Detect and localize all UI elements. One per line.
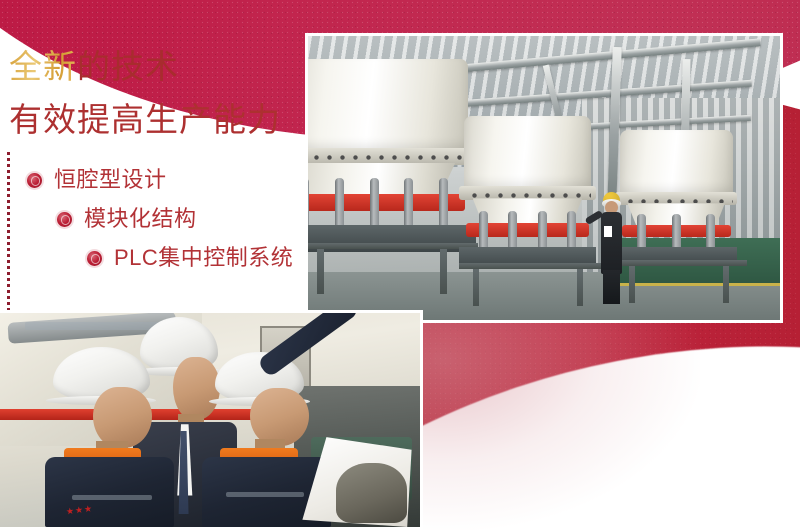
bullet-dot-icon [57, 212, 72, 227]
bullet-label: 恒腔型设计 [54, 167, 167, 193]
headline-gold-text: 全新 [9, 48, 77, 85]
bullet-label: PLC集中控制系统 [114, 245, 293, 271]
factory-worker-figure [596, 192, 630, 302]
feature-bullet-list: 恒腔型设计 模块化结构 PLC集中控制系统 [0, 167, 320, 284]
list-item: 恒腔型设计 [0, 167, 320, 193]
headline-red-text: 的技术 [77, 48, 179, 85]
list-item: PLC集中控制系统 [0, 245, 320, 271]
foreground-material [336, 463, 407, 523]
bullet-label: 模块化结构 [84, 206, 197, 232]
list-item: 模块化结构 [0, 206, 320, 232]
bullet-dot-icon [27, 173, 42, 188]
bullet-dot-icon [87, 251, 102, 266]
promo-banner: 全新的技术 有效提高生产能力 恒腔型设计 模块化结构 PLC集中控制系统 [0, 0, 800, 530]
headline-line-1: 全新的技术 [9, 46, 309, 88]
headline-line-2: 有效提高生产能力 [9, 99, 309, 141]
headline-block: 全新的技术 有效提高生产能力 [9, 46, 309, 141]
factory-crushers-photo [305, 33, 783, 323]
workers-inspection-photo: ★★★ [0, 310, 423, 530]
person-left-worker: ★★★ [42, 347, 176, 527]
